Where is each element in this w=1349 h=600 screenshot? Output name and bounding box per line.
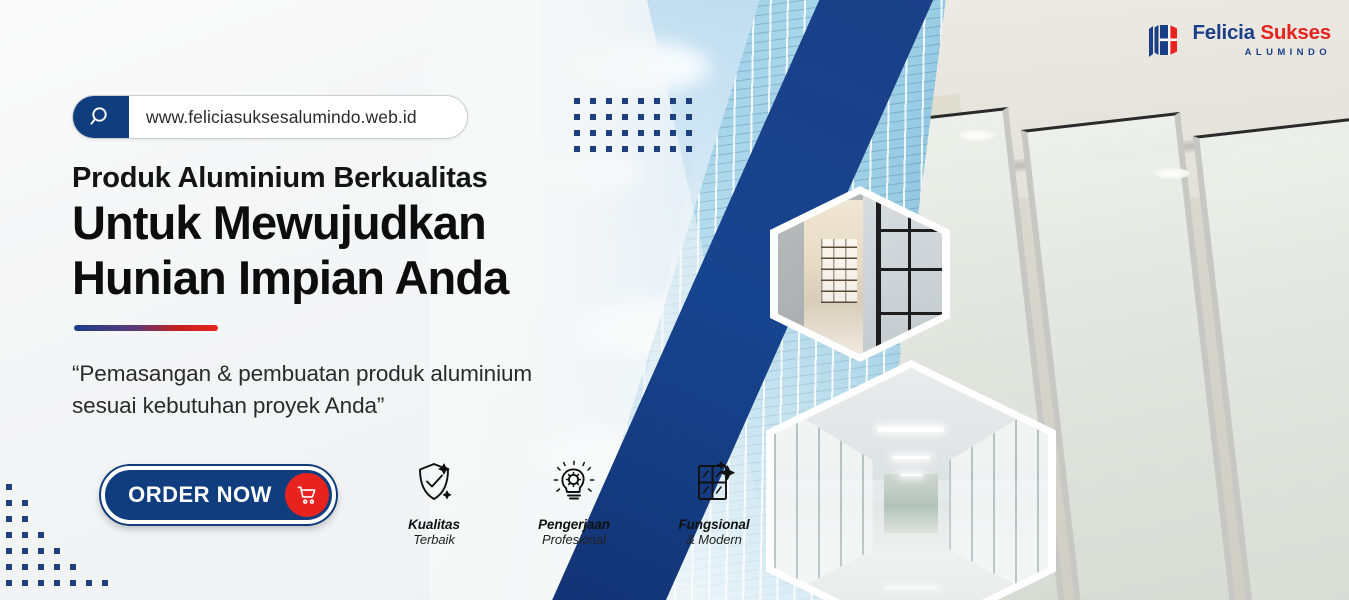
shield-check-icon	[384, 455, 484, 509]
feature-item-fungsional: Fungsional & Modern	[664, 455, 764, 547]
brand-logo-text: Felicia Sukses ALUMINDO	[1192, 23, 1331, 57]
headline-block: Produk Aluminium Berkualitas Untuk Mewuj…	[72, 160, 692, 306]
tagline-block: “Pemasangan & pembuatan produk aluminium…	[72, 358, 672, 422]
website-url-text: www.feliciasuksesalumindo.web.id	[129, 96, 467, 138]
tagline-line-2: sesuai kebutuhan proyek Anda”	[72, 390, 672, 422]
headline-line-3: Hunian Impian Anda	[72, 251, 692, 306]
brand-name-secondary: Sukses	[1260, 21, 1331, 44]
search-icon	[89, 105, 113, 129]
feature-subtitle: Profesional	[524, 532, 624, 547]
aluminium-door-photo-art	[778, 194, 942, 354]
headline-line-1: Produk Aluminium Berkualitas	[72, 160, 692, 196]
website-url-bar[interactable]: www.feliciasuksesalumindo.web.id	[72, 95, 468, 139]
order-now-label: ORDER NOW	[105, 482, 285, 508]
cart-icon-badge	[285, 473, 329, 517]
brand-name-primary: Felicia	[1192, 21, 1254, 44]
shopping-cart-icon	[296, 484, 319, 507]
folding-door-logo-icon	[1147, 22, 1181, 58]
ceiling-downlight-icon	[1154, 168, 1190, 179]
dot-grid-decoration-top	[574, 98, 702, 162]
headline-line-2: Untuk Mewujudkan	[72, 196, 692, 251]
promotional-banner: www.feliciasuksesalumindo.web.id Produk …	[0, 0, 1349, 600]
headline-accent-bar	[74, 325, 218, 331]
feature-title: Fungsional	[664, 517, 764, 532]
feature-subtitle: Terbaik	[384, 532, 484, 547]
feature-list: Kualitas Terbaik Pengerjaan Profesional	[384, 455, 764, 547]
brand-logo[interactable]: Felicia Sukses ALUMINDO	[1147, 22, 1331, 58]
order-now-button[interactable]: ORDER NOW	[101, 466, 336, 524]
search-button[interactable]	[73, 96, 129, 138]
brand-subtitle: ALUMINDO	[1192, 48, 1331, 58]
feature-item-pengerjaan: Pengerjaan Profesional	[524, 455, 624, 547]
hexagon-photo-inner	[778, 194, 942, 354]
ceiling-downlight-icon	[959, 130, 995, 141]
window-sparkle-icon	[664, 455, 764, 509]
lightbulb-gear-icon	[524, 455, 624, 509]
feature-title: Pengerjaan	[524, 517, 624, 532]
feature-title: Kualitas	[384, 517, 484, 532]
feature-item-kualitas: Kualitas Terbaik	[384, 455, 484, 547]
feature-subtitle: & Modern	[664, 532, 764, 547]
tagline-line-1: “Pemasangan & pembuatan produk aluminium	[72, 358, 672, 390]
